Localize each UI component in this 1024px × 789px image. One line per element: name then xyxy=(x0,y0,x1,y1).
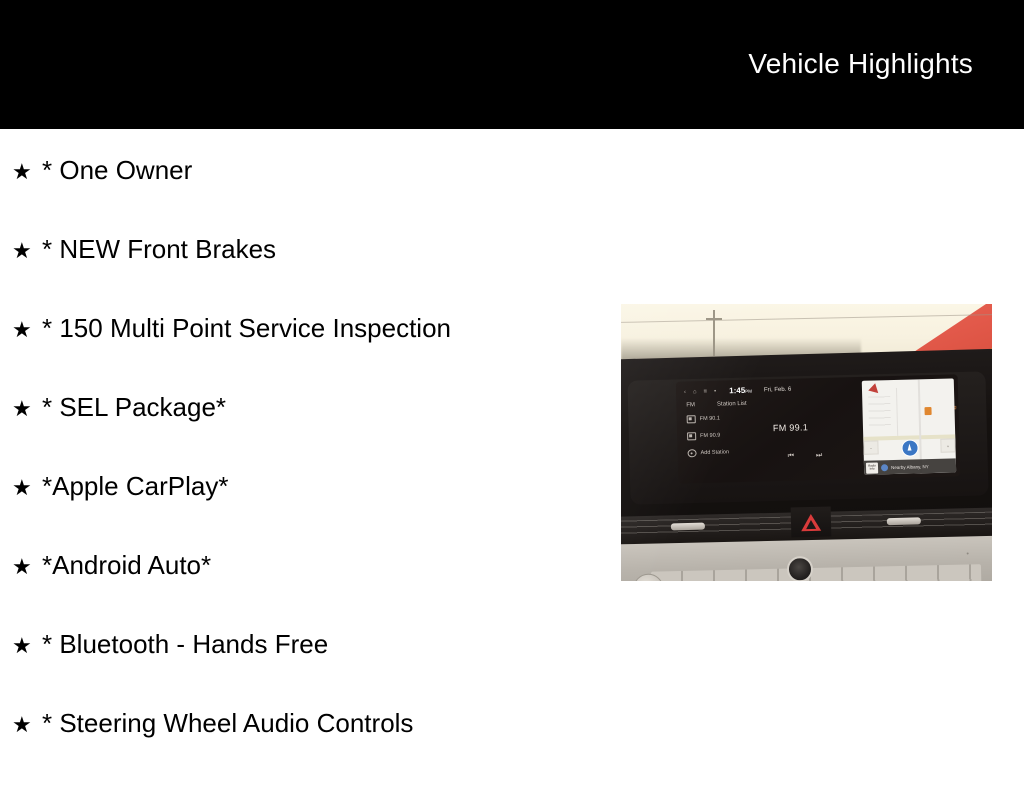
list-item-label: * Bluetooth - Hands Free xyxy=(42,631,328,657)
map-location-label: Nearby Albany, NY xyxy=(891,464,929,470)
list-item: ★ *Apple CarPlay* xyxy=(0,473,620,552)
previous-track-icon[interactable]: ⏮ xyxy=(788,453,795,461)
list-item: ★ * Bluetooth - Hands Free xyxy=(0,631,620,710)
list-item-label: * One Owner xyxy=(42,157,192,183)
star-bullet-icon: ★ xyxy=(12,240,42,262)
next-track-icon[interactable]: ⏭ xyxy=(816,452,823,460)
star-bullet-icon: ★ xyxy=(12,161,42,183)
hazard-triangle-icon xyxy=(801,513,821,530)
navigation-map-widget[interactable]: − + Radio Info Nearby Albany, NY xyxy=(862,378,956,474)
page-title: Vehicle Highlights xyxy=(748,50,973,78)
list-item-label: * 150 Multi Point Service Inspection xyxy=(42,315,451,341)
utility-pole xyxy=(713,310,715,356)
add-station-button[interactable]: Add Station xyxy=(687,448,729,457)
map-poi-marker xyxy=(924,407,931,415)
vent-chrome-trim-left xyxy=(671,523,705,531)
vent-chrome-trim-right xyxy=(887,517,921,525)
map-minor-road xyxy=(896,388,898,436)
map-zoom-in-button[interactable]: + xyxy=(940,438,955,452)
list-item: ★ * 150 Multi Point Service Inspection xyxy=(0,315,620,394)
star-bullet-icon: ★ xyxy=(12,398,42,420)
map-footer-bar: Radio Info Nearby Albany, NY xyxy=(864,458,956,474)
center-console: A/C xyxy=(621,535,992,581)
radio-preset-icon xyxy=(687,415,696,423)
back-icon[interactable]: ‹ xyxy=(684,389,686,395)
menu-icon[interactable]: ≡ xyxy=(704,389,708,395)
preset-label: Add Station xyxy=(701,449,730,456)
preset-list: FM 90.1 FM 90.9 Add Station xyxy=(687,414,730,457)
list-item: ★ * SEL Package* xyxy=(0,394,620,473)
preset-item[interactable]: FM 90.1 xyxy=(687,414,729,423)
map-pin-icon xyxy=(881,464,888,471)
console-indicator-dot xyxy=(967,552,969,554)
list-item-label: * Steering Wheel Audio Controls xyxy=(42,710,413,736)
map-zoom-out-button[interactable]: − xyxy=(863,440,878,454)
preset-label: FM 90.9 xyxy=(700,433,720,440)
home-icon[interactable]: ⌂ xyxy=(693,389,697,395)
preset-label: FM 90.1 xyxy=(700,416,720,423)
map-side-streets xyxy=(868,396,891,431)
vehicle-highlights-list: ★ * One Owner ★ * NEW Front Brakes ★ * 1… xyxy=(0,129,620,789)
star-bullet-icon: ★ xyxy=(12,319,42,341)
star-bullet-icon: ★ xyxy=(12,477,42,499)
header-bar: Vehicle Highlights xyxy=(0,0,1024,129)
hazard-light-button[interactable] xyxy=(791,507,832,538)
list-item-label: *Android Auto* xyxy=(42,552,211,578)
preset-item[interactable]: FM 90.9 xyxy=(687,431,729,440)
now-playing-station: FM 99.1 xyxy=(773,422,808,433)
list-item-label: * NEW Front Brakes xyxy=(42,236,276,262)
map-badge: Radio Info xyxy=(866,462,878,473)
radio-preset-icon xyxy=(687,432,696,440)
console-button-row[interactable] xyxy=(651,564,981,581)
station-list-button[interactable]: Station List xyxy=(717,401,747,408)
clock-ampm: PM xyxy=(745,389,752,394)
infotainment-screen[interactable]: ‹ ⌂ ≡ • 1:45PM Fri, Feb. 6 FM Station Li… xyxy=(676,374,961,483)
list-item: ★ * NEW Front Brakes xyxy=(0,236,620,315)
vehicle-infotainment-photo: ‹ ⌂ ≡ • 1:45PM Fri, Feb. 6 FM Station Li… xyxy=(621,304,992,581)
clock-value: 1:45 xyxy=(729,386,745,395)
list-item: ★ *Android Auto* xyxy=(0,552,620,631)
list-item-label: *Apple CarPlay* xyxy=(42,473,228,499)
map-current-position-icon xyxy=(901,439,918,456)
add-station-icon xyxy=(687,449,696,457)
list-item: ★ * Steering Wheel Audio Controls xyxy=(0,710,620,789)
mic-icon[interactable]: • xyxy=(714,389,716,395)
volume-knob[interactable] xyxy=(787,556,814,581)
clock-time: 1:45PM xyxy=(729,387,752,396)
band-label[interactable]: FM xyxy=(686,402,695,408)
transport-controls: ⏮ ⏭ xyxy=(788,452,823,461)
map-north-arrow-icon xyxy=(868,383,881,396)
star-bullet-icon: ★ xyxy=(12,635,42,657)
status-date: Fri, Feb. 6 xyxy=(764,387,791,394)
star-bullet-icon: ★ xyxy=(12,714,42,736)
list-item: ★ * One Owner xyxy=(0,129,620,236)
star-bullet-icon: ★ xyxy=(12,556,42,578)
list-item-label: * SEL Package* xyxy=(42,394,226,420)
